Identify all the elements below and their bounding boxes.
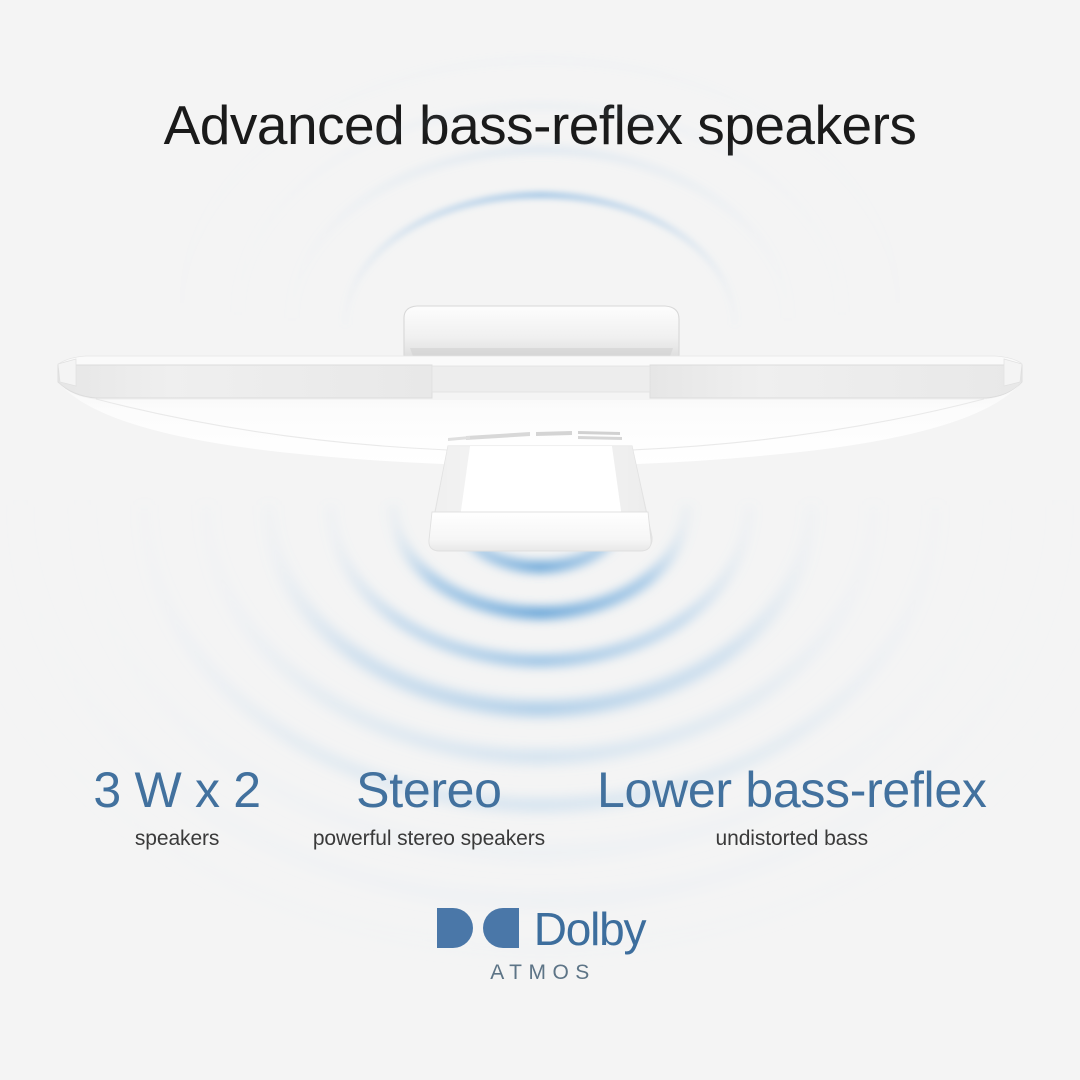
stat-value: Lower bass-reflex <box>597 762 987 818</box>
stat-value: 3 W x 2 <box>93 762 260 818</box>
stat-label: undistorted bass <box>716 827 869 851</box>
stat-item-bass-reflex: Lower bass-reflex undistorted bass <box>583 762 1001 851</box>
monitor-stand <box>430 446 652 550</box>
spec-stats-row: 3 W x 2 speakers Stereo powerful stereo … <box>0 762 1080 851</box>
monitor-hinge-hump <box>404 306 679 363</box>
stat-label: powerful stereo speakers <box>313 827 545 851</box>
monitor-stand-base <box>429 512 651 551</box>
stat-item-stereo: Stereo powerful stereo speakers <box>299 762 559 851</box>
stat-label: speakers <box>135 827 219 851</box>
dolby-atmos-logo: Dolby ATMOS <box>0 905 1080 985</box>
wave-arc-group-bottom <box>0 505 1080 949</box>
asus-logo <box>448 431 622 441</box>
dolby-wordmark: Dolby <box>534 906 646 952</box>
dolby-double-d-icon <box>435 906 521 950</box>
dolby-atmos-subtext: ATMOS <box>484 961 596 985</box>
product-feature-card: Advanced bass-reflex speakers <box>0 0 1080 1080</box>
monitor-underside <box>58 382 1022 466</box>
page-title: Advanced bass-reflex speakers <box>0 95 1080 156</box>
monitor-top-edge <box>60 356 1021 379</box>
monitor-rear-panel <box>58 365 1022 398</box>
monitor-end-caps <box>58 359 1022 386</box>
stat-value: Stereo <box>356 762 502 818</box>
dolby-logo-row: Dolby <box>435 905 646 951</box>
stat-item-speakers: 3 W x 2 speakers <box>79 762 274 851</box>
